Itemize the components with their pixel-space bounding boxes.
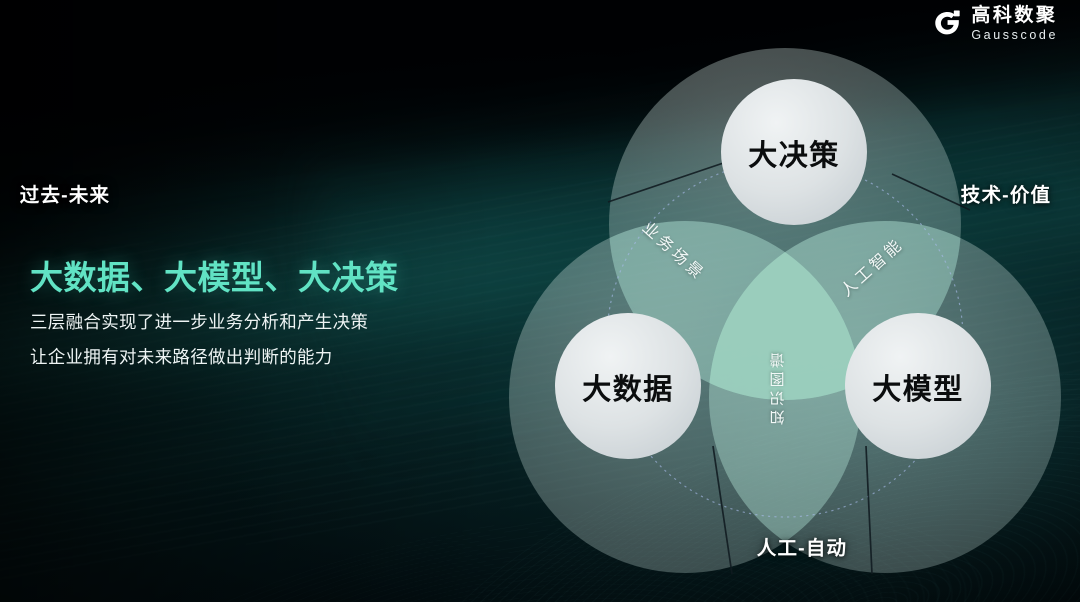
subtitle-line-2: 让企业拥有对未来路径做出判断的能力 (30, 349, 490, 367)
venn-diagram-graphic (500, 14, 1070, 589)
page-title: 大数据、大模型、大决策 (30, 258, 490, 298)
subtitle-line-1: 三层融合实现了进一步业务分析和产生决策 (30, 314, 490, 332)
slide-canvas: 高科数聚 Gausscode 大数据、大模型、大决策 三层融合实现了进一步业务分… (0, 0, 1080, 602)
node-circle-decision (721, 79, 867, 225)
node-circle-bigmodel (845, 313, 991, 459)
left-text-block: 大数据、大模型、大决策 三层融合实现了进一步业务分析和产生决策 让企业拥有对未来… (30, 258, 490, 367)
venn-diagram: 大决策 大数据 大模型 业务场景 人工智能 知识图谱 (500, 14, 1070, 589)
node-circle-bigdata (555, 313, 701, 459)
